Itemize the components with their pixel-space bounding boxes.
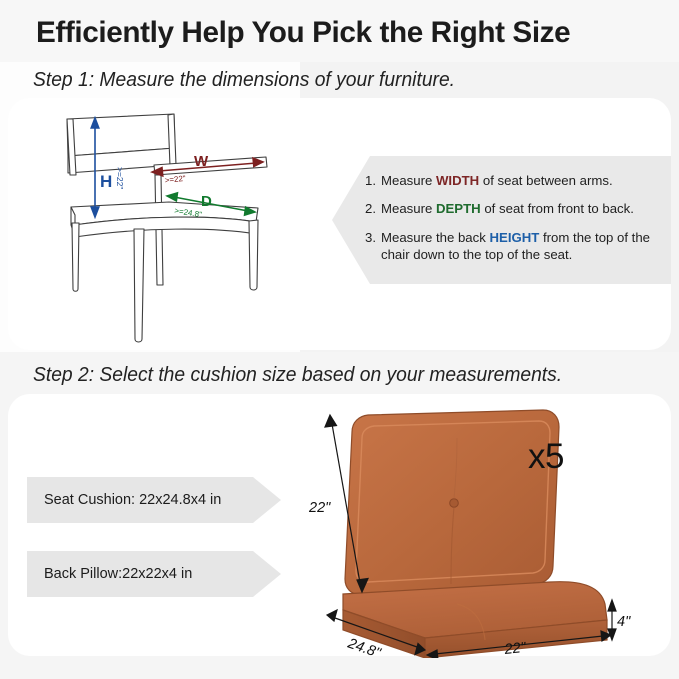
chair-width-label: W <box>194 153 209 170</box>
instruction-item-1: 1. Measure WIDTH of seat between arms. <box>365 172 655 189</box>
chair-diagram: H >=22" W >=22" D >=24.8" <box>34 103 334 348</box>
instruction-text: Measure DEPTH of seat from front to back… <box>381 200 634 217</box>
chair-width-value: >=22" <box>164 174 186 185</box>
step-1-heading: Step 1: Measure the dimensions of your f… <box>33 68 455 92</box>
keyword-height: HEIGHT <box>490 230 540 245</box>
chair-leg-back-right <box>249 220 258 290</box>
seat-cushion-size-text: Seat Cushion: 22x24.8x4 in <box>44 492 221 508</box>
instruction-text: Measure WIDTH of seat between arms. <box>381 172 613 189</box>
chair-height-label: H <box>100 172 112 191</box>
instruction-number: 2. <box>365 200 376 217</box>
cushion-width-dimension-label: 22" <box>503 640 528 658</box>
instruction-number: 1. <box>365 172 376 189</box>
keyword-width: WIDTH <box>436 173 479 188</box>
seat-cushion-size-tag: Seat Cushion: 22x24.8x4 in <box>27 477 298 523</box>
instruction-item-2: 2. Measure DEPTH of seat from front to b… <box>365 200 655 217</box>
instructions-callout: 1. Measure WIDTH of seat between arms. 2… <box>332 156 671 284</box>
chair-height-value: >=22" <box>115 167 125 189</box>
back-pillow-button-tuft <box>450 499 459 508</box>
chair-leg-front-center <box>134 229 144 342</box>
instruction-item-3: 3. Measure the back HEIGHT from the top … <box>365 229 655 264</box>
quantity-badge: x5 <box>528 437 564 477</box>
chair-back-right-post <box>168 114 176 166</box>
back-pillow-size-text: Back Pillow:22x22x4 in <box>44 566 192 582</box>
infographic-page: Efficiently Help You Pick the Right Size… <box>0 0 679 679</box>
seat-cushion <box>343 582 607 658</box>
cushion-illustration: 22" 24.8" 22" 4" <box>305 408 677 658</box>
step-2-heading: Step 2: Select the cushion size based on… <box>33 363 562 387</box>
cushion-thickness-dimension-label: 4" <box>617 614 631 630</box>
instruction-text: Measure the back HEIGHT from the top of … <box>381 229 655 264</box>
instruction-number: 3. <box>365 229 376 264</box>
back-pillow-size-tag: Back Pillow:22x22x4 in <box>27 551 298 597</box>
chair-leg-front-left <box>72 223 79 291</box>
cushion-height-dimension-label: 22" <box>308 500 331 516</box>
keyword-depth: DEPTH <box>436 201 481 216</box>
dimension-seat-thickness <box>608 600 616 640</box>
instructions-list: 1. Measure WIDTH of seat between arms. 2… <box>332 156 671 264</box>
back-pillow <box>345 410 559 594</box>
chair-depth-label: D <box>201 193 212 210</box>
page-title: Efficiently Help You Pick the Right Size <box>36 16 570 50</box>
